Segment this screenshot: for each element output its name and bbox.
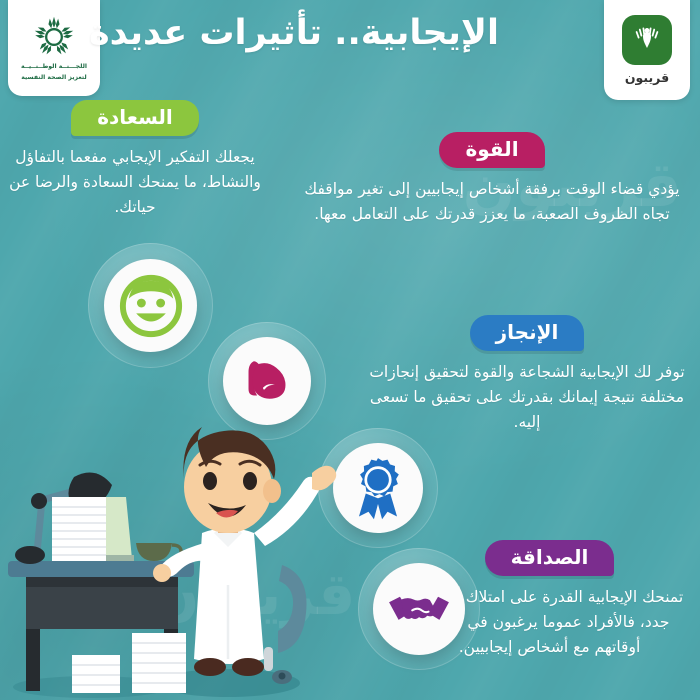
- section-friendship-badge: الصداقة: [485, 540, 615, 576]
- happy-office-man-illustration: [0, 415, 396, 700]
- section-happiness-body: يجعلك التفكير الإيجابي مفعما بالتفاؤل وا…: [0, 145, 270, 220]
- app-badge: قريبون: [604, 0, 690, 100]
- app-name-label: قريبون: [625, 70, 669, 85]
- logo-text-line-2: لتعزيز الصحة النفسية: [21, 73, 86, 82]
- disc-inner: [104, 259, 197, 352]
- section-happiness-badge: السعادة: [71, 100, 199, 136]
- section-achievement: الإنجاز توفر لك الإيجابية الشجاعة والقوة…: [362, 315, 692, 435]
- section-happiness: السعادة يجعلك التفكير الإيجابي مفعما بال…: [0, 100, 270, 220]
- section-achievement-body: توفر لك الإيجابية الشجاعة والقوة لتحقيق …: [362, 360, 692, 435]
- flexed-bicep-icon: [234, 348, 300, 414]
- smiley-face-icon: [114, 269, 188, 343]
- paper-stack-floor-small: [72, 655, 120, 693]
- paper-stack-floor-large: [132, 633, 186, 693]
- disc-inner: [223, 337, 311, 425]
- section-strength-badge: القوة: [439, 132, 544, 168]
- section-strength-body: يؤدي قضاء الوقت برفقة أشخاص إيجابيين إلى…: [292, 177, 692, 227]
- page-title: الإيجابية.. تأثيرات عديدة: [0, 12, 588, 56]
- infographic-poster: قريبون قريبون اللجـــنــة الوطــنــيــة …: [0, 0, 700, 700]
- paper-stack-desk: [52, 497, 106, 561]
- computer-mouse: [15, 546, 45, 564]
- qareeboon-app-icon: [622, 15, 672, 65]
- section-achievement-badge: الإنجاز: [470, 315, 585, 351]
- icon-disc-happiness: [88, 243, 213, 368]
- qareeboon-glyph-icon: [627, 20, 667, 60]
- office-chair: [264, 565, 307, 684]
- section-strength: القوة يؤدي قضاء الوقت برفقة أشخاص إيجابي…: [292, 132, 692, 227]
- logo-text-line-1: اللجـــنــة الوطــنــيــة: [21, 62, 87, 71]
